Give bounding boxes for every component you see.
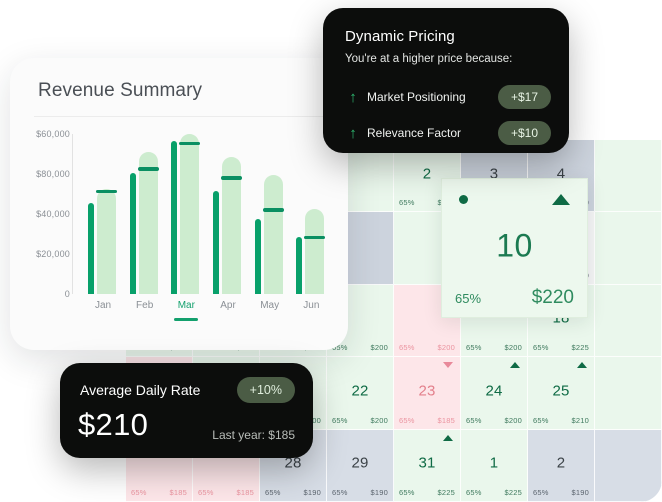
triangle-up-icon [552, 194, 570, 205]
calendar-day-number: 31 [394, 455, 460, 472]
calendar-day-number: 2 [528, 455, 594, 472]
pricing-factor-label: Market Positioning [361, 90, 498, 104]
pricing-factor-row: ↑ Market Positioning +$17 [345, 84, 551, 110]
calendar-day-price: $225 [572, 343, 590, 352]
calendar-day-cell[interactable]: 265%$190 [528, 430, 595, 502]
calendar-day-footer: 65%$200 [399, 343, 455, 352]
triangle-up-icon [443, 435, 453, 441]
calendar-day-number: 1 [461, 455, 527, 472]
calendar-day-price: $200 [371, 416, 389, 425]
screen-root: 65%$185165%$18565%265%$185365%$190465%$1… [0, 0, 662, 502]
calendar-day-occupancy: 65% [466, 488, 482, 497]
chart-bar-marker [179, 142, 200, 146]
revenue-chart: $60,000$80,000$40,000$20,0000 JanFebMarA… [10, 122, 348, 350]
chart-bar-potential [139, 152, 158, 294]
calendar-day-cell[interactable]: 2265%$200 [327, 357, 394, 429]
calendar-day-footer: 65%$185 [198, 488, 254, 497]
chart-bar-actual [171, 141, 177, 294]
chart-y-axis-labels: $60,000$80,000$40,000$20,0000 [10, 134, 70, 294]
calendar-day-occupancy: 65% [265, 488, 281, 497]
chart-y-tick-label: $40,000 [36, 209, 70, 219]
chart-plot-area [82, 134, 332, 294]
pricing-factor-row: ↑ Relevance Factor +$10 [345, 120, 551, 146]
calendar-day-price: $185 [237, 488, 255, 497]
calendar-day-occupancy: 65% [332, 488, 348, 497]
calendar-day-occupancy: 65% [399, 198, 415, 207]
calendar-day-cell[interactable]: 2365%$185 [394, 357, 461, 429]
calendar-day-price: $210 [572, 416, 590, 425]
calendar-day-footer: 65%$190 [533, 488, 589, 497]
dynamic-pricing-subtitle: You're at a higher price because: [345, 53, 512, 65]
triangle-down-icon [443, 362, 453, 368]
calendar-day-cell[interactable] [595, 140, 662, 212]
chart-x-tick-may[interactable]: May [251, 300, 289, 311]
calendar-day-price: $185 [438, 416, 456, 425]
calendar-day-footer: 65%$190 [265, 488, 321, 497]
revenue-summary-card: Revenue Summary $60,000$80,000$40,000$20… [10, 58, 348, 350]
calendar-day-footer: 65%$200 [466, 416, 522, 425]
calendar-day-footer: 65%$225 [533, 343, 589, 352]
calendar-day-number: 29 [327, 455, 393, 472]
average-daily-rate-badge: +10% [237, 377, 295, 403]
triangle-up-icon [577, 362, 587, 368]
chart-x-tick-jan[interactable]: Jan [84, 300, 122, 311]
calendar-day-price: $225 [438, 488, 456, 497]
chart-bar-actual [296, 237, 302, 294]
calendar-day-cell[interactable] [595, 357, 662, 429]
chart-x-tick-jun[interactable]: Jun [292, 300, 330, 311]
calendar-day-footer: 65%$185 [131, 488, 187, 497]
calendar-day-price: $185 [170, 488, 188, 497]
calendar-day-occupancy: 65% [466, 343, 482, 352]
chart-x-tick-feb[interactable]: Feb [126, 300, 164, 311]
calendar-day-footer: 65%$200 [332, 416, 388, 425]
chart-bar-potential [97, 189, 116, 294]
card-divider [34, 116, 324, 117]
selected-day-occupancy: 65% [455, 291, 481, 306]
chart-x-axis-labels[interactable]: JanFebMarAprMayJun [82, 300, 332, 330]
selected-day-number: 10 [442, 227, 587, 264]
calendar-day-price: $200 [438, 343, 456, 352]
average-daily-rate-last-year: Last year: $185 [212, 428, 295, 442]
calendar-day-occupancy: 65% [533, 343, 549, 352]
chart-bar-actual [255, 219, 261, 294]
calendar-day-footer: 65%$190 [332, 488, 388, 497]
calendar-day-occupancy: 65% [399, 488, 415, 497]
chart-y-tick-label: 0 [65, 289, 70, 299]
selected-day-footer: 65% $220 [455, 287, 574, 309]
calendar-day-cell[interactable] [595, 430, 662, 502]
calendar-day-number: 24 [461, 382, 527, 399]
calendar-selected-day[interactable]: 10 65% $220 [441, 178, 588, 318]
average-daily-rate-card: Average Daily Rate +10% $210 Last year: … [60, 363, 313, 458]
calendar-day-occupancy: 65% [131, 488, 147, 497]
calendar-day-price: $225 [505, 488, 523, 497]
calendar-day-number: 23 [394, 382, 460, 399]
chart-y-tick-label: $80,000 [36, 169, 70, 179]
dynamic-pricing-card: Dynamic Pricing You're at a higher price… [323, 8, 569, 153]
pricing-factor-delta: +$17 [498, 85, 551, 109]
arrow-up-icon: ↑ [345, 90, 361, 105]
chart-bar-marker [221, 176, 242, 180]
chart-x-tick-mar[interactable]: Mar [167, 300, 205, 311]
chart-x-tick-apr[interactable]: Apr [209, 300, 247, 311]
chart-bar-actual [88, 203, 94, 294]
average-daily-rate-title: Average Daily Rate [80, 382, 200, 398]
average-daily-rate-value: $210 [78, 407, 148, 443]
pricing-factor-delta: +$10 [498, 121, 551, 145]
triangle-up-icon [510, 362, 520, 368]
pricing-factor-label: Relevance Factor [361, 126, 498, 140]
calendar-day-footer: 65%$225 [466, 488, 522, 497]
chart-y-tick-label: $60,000 [36, 129, 70, 139]
chart-bar-potential [264, 175, 283, 294]
chart-bar-marker [304, 236, 325, 240]
dynamic-pricing-title: Dynamic Pricing [345, 28, 455, 45]
calendar-day-occupancy: 65% [399, 343, 415, 352]
calendar-day-occupancy: 65% [466, 416, 482, 425]
calendar-day-price: $200 [505, 416, 523, 425]
calendar-day-footer: 65%$225 [399, 488, 455, 497]
chart-bar-marker [263, 208, 284, 212]
calendar-day-occupancy: 65% [332, 416, 348, 425]
calendar-day-occupancy: 65% [533, 416, 549, 425]
calendar-day-number: 25 [528, 382, 594, 399]
calendar-day-price: $200 [371, 343, 389, 352]
calendar-day-occupancy: 65% [198, 488, 214, 497]
chart-y-axis-line [72, 134, 73, 294]
calendar-day-occupancy: 65% [533, 488, 549, 497]
chart-bar-potential [305, 209, 324, 294]
calendar-day-price: $190 [304, 488, 322, 497]
calendar-day-occupancy: 65% [399, 416, 415, 425]
chart-bar-actual [130, 173, 136, 294]
dot-icon [459, 195, 468, 204]
chart-bar-actual [213, 191, 219, 294]
chart-bar-potential [180, 134, 199, 294]
calendar-day-cell[interactable] [595, 285, 662, 357]
calendar-day-cell[interactable] [595, 212, 662, 284]
selected-day-price: $220 [532, 287, 574, 309]
calendar-day-price: $190 [572, 488, 590, 497]
chart-bar-marker [96, 190, 117, 194]
calendar-day-cell[interactable]: 2965%$190 [327, 430, 394, 502]
chart-bar-marker [138, 167, 159, 171]
calendar-day-cell[interactable]: 3165%$225 [394, 430, 461, 502]
calendar-day-price: $200 [505, 343, 523, 352]
calendar-day-cell[interactable]: 165%$225 [461, 430, 528, 502]
calendar-day-footer: 65%$200 [466, 343, 522, 352]
active-month-underline [174, 318, 198, 321]
calendar-day-footer: 65%$210 [533, 416, 589, 425]
calendar-day-cell[interactable]: 2465%$200 [461, 357, 528, 429]
arrow-up-icon: ↑ [345, 126, 361, 141]
calendar-day-number: 22 [327, 382, 393, 399]
calendar-day-price: $190 [371, 488, 389, 497]
revenue-summary-title: Revenue Summary [38, 80, 202, 102]
calendar-day-cell[interactable]: 2565%$210 [528, 357, 595, 429]
calendar-day-footer: 65%$185 [399, 416, 455, 425]
chart-y-tick-label: $20,000 [36, 249, 70, 259]
